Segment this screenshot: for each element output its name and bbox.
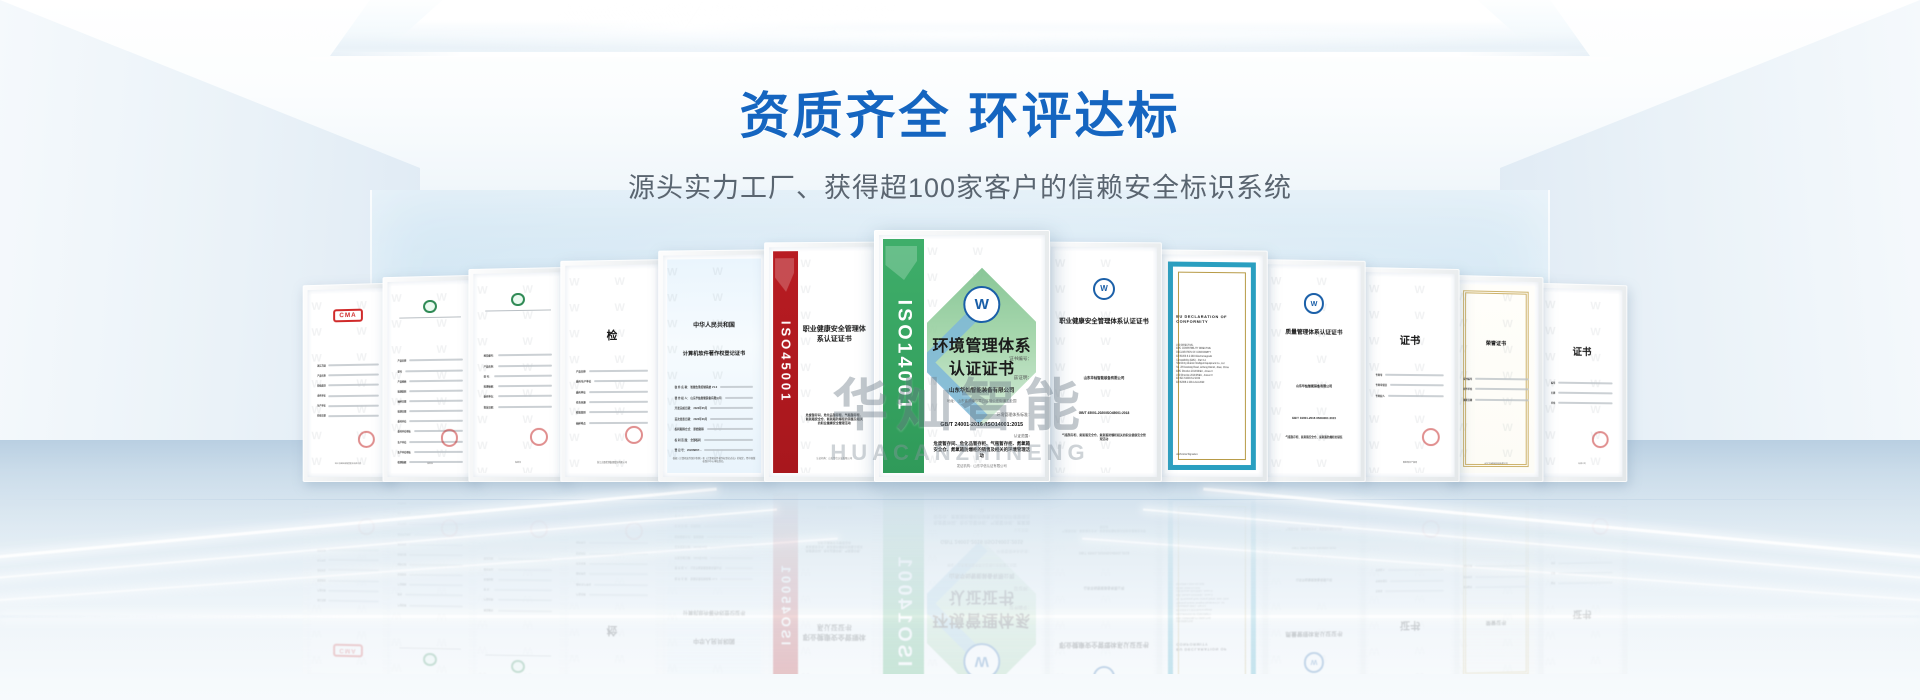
scope-value: 气瓶暂存柜、氮氧箱安全仓、氮氧箱防爆柜相关的职业健康安全管理活动	[1061, 433, 1147, 441]
certificate-mat: W W W W W W W W W W W W W W W W W W W W …	[387, 280, 472, 477]
paper-text-line	[720, 386, 753, 388]
standard-value: GB/T 24001-2016 /ISO14001:2015	[927, 422, 1036, 428]
certificate-field-row: 著 作 权 人： 山东华灿智能装备有限公司	[675, 393, 754, 401]
certificate-field-label: 委托/生产单位	[576, 379, 591, 383]
scope-value: 危废暂存间、危化品暂存柜、气瓶暂存柜、氮氧箱安全仓、氮氧箱防爆柜的销售及相关的环…	[933, 441, 1031, 459]
certificate-title: 证书	[1372, 335, 1447, 349]
certificate-field-label: 委托单位地址	[398, 430, 411, 434]
certificate-field-label: 开发完成日期： 2023年05月	[675, 406, 708, 410]
banner-headings: 资质齐全 环评达标 源头实力工厂、获得超100家客户的信赖安全标识系统	[0, 88, 1920, 205]
scope-label: 认证范围：	[1014, 434, 1032, 439]
certificate-field-label: 产品名称：	[484, 364, 495, 368]
certificate-mat: W W W W W W W W W W W W W W W W W W W W …	[473, 272, 563, 477]
certificate-field-label: 产品规格	[398, 379, 407, 383]
certificate-field-label: 委托单位：	[484, 395, 495, 399]
certificate-field-label: 型号	[398, 369, 402, 373]
certificate-subtitle: 计算机软件著作权登记证书	[671, 349, 757, 358]
certificate-field-label: 检验类别	[576, 410, 586, 414]
certificate-field-label: 报告编号：	[484, 354, 495, 358]
paper-text-line	[704, 439, 754, 441]
certificate-fields: 产品名称型号产品规格检测类别抽样日期检测日期委托单位委托单位地址生产单位生产单位…	[398, 356, 463, 468]
paper-text-line	[405, 369, 463, 372]
certificate-field-label: 颁发日期	[1463, 397, 1472, 401]
certificate-title: 检	[573, 330, 652, 344]
certificate-field-label: 检测类别	[398, 389, 407, 393]
certificate-field-row: 名称	[1551, 389, 1613, 398]
paper-text-line	[409, 400, 462, 403]
certificate-frame[interactable]: W W W W W W W W W W W W W W W W W W W W …	[468, 267, 568, 482]
certificate-field-row: 委托单位	[317, 391, 379, 400]
certificate-number-label: 证书编号：	[1009, 356, 1032, 362]
certificate-body: W W W W W W W W W W W W W W W W W W W W …	[927, 239, 1036, 473]
certificate-field-row: 权利取得方式： 原始取得	[675, 425, 754, 433]
certificate-paper: W W W W W W W W W W W W W W W W W W W W …	[391, 284, 469, 473]
certificate-field-row: 检测日期	[398, 407, 463, 416]
paper-text-line	[329, 364, 379, 367]
red-stamp-icon	[441, 429, 458, 446]
certificate-field-row: 颁发日期	[1463, 395, 1528, 404]
certificate-field-row: 检测类别	[398, 386, 463, 395]
certificate-field-label: 任务来源	[576, 400, 586, 404]
cma-badge: CMA	[312, 308, 385, 323]
certificate-field-label: 检测依据：	[484, 384, 495, 388]
paper-text-line	[1558, 402, 1612, 405]
ceiling-light-streak-icon	[553, 4, 897, 32]
paper-text-line	[1475, 398, 1528, 401]
certificate-footer: 认证机构：山东华信认证有限公司	[804, 456, 865, 460]
company-name: 山东华灿智能装备有限公司	[927, 386, 1036, 394]
paper-text-line	[589, 421, 649, 423]
certificate-paper: W W W W W W W W W W W W W W W W W W W W …	[477, 276, 559, 473]
standard-value: GB/T 19001-2016 /ISO9001:2015	[1274, 416, 1353, 420]
paper-watermark-icon: W W W W W W W W W W W W W W W W W W W W …	[800, 251, 868, 473]
iso-band: ISO45001	[773, 251, 798, 473]
certificate-footer: 根据《计算机软件保护条例》和《计算机软件著作权登记办法》的规定，经中国版权保护中…	[672, 458, 757, 464]
certificate-field-row: 检验日期	[317, 411, 379, 420]
paper-text-line	[589, 411, 649, 413]
red-stamp-icon	[1422, 428, 1440, 446]
certificate-frame[interactable]: ISO14001W W W W W W W W W W W W W W W W …	[874, 230, 1050, 482]
certificate-field-label: 单位	[1551, 402, 1555, 405]
paper-text-line	[594, 380, 648, 382]
ceiling-light-rim	[305, 52, 1615, 57]
certificate-field-label: 生产单位	[398, 440, 407, 444]
paper-text-line	[724, 396, 753, 398]
certificate-field-row: 授予单位	[1463, 385, 1528, 394]
certificate-mat: W W W W W W W W W W W W W W W W W W W W …	[1453, 280, 1538, 477]
certificate-mat: W W W W W W W W W W W W W W W W W W W W …	[1541, 288, 1622, 477]
certificate-field-label: 浙江方圆	[317, 364, 325, 367]
cma-badge-icon: CMA	[333, 309, 362, 323]
certificate-field-label: 权利取得方式： 原始取得	[675, 427, 704, 431]
paper-text-line	[498, 395, 552, 397]
certificate-footer: 深圳市	[481, 462, 555, 465]
certificate-mat: EU DECLARATION OF CONFORMITYLVD DIRECTIV…	[1161, 254, 1263, 477]
certificate-frame[interactable]: W W W W W W W W W W W W W W W W W W W W …	[1360, 267, 1460, 482]
paper-text-line	[589, 390, 649, 392]
certificate-frame[interactable]: W W W W W W W W W W W W W W W W W W W W …	[1046, 242, 1162, 482]
certificate-footer: 国家知识产权局	[1373, 462, 1447, 465]
paper-text-line	[707, 428, 754, 430]
certificate-field-label: 委托单位	[398, 419, 407, 423]
iso-band: ISO14001	[883, 239, 924, 473]
certificate-field-label: 权 利 范 围： 全部权利	[675, 438, 701, 442]
certificate-mat: W W W W W W W W W W W W W W W W W W W W …	[1365, 272, 1455, 477]
certificate-mat: W W W W W W W W W W W W W W W W W W W W …	[565, 264, 659, 477]
certificate-frame[interactable]: W W W W W W W W W W W W W W W W W W W W …	[1448, 275, 1543, 482]
paper-text-line	[329, 414, 379, 416]
paper-text-line	[498, 354, 552, 357]
certificate-fields: 证书编号授予单位颁发日期	[1463, 375, 1528, 406]
certificate-field-label: 产品名称	[576, 369, 586, 373]
certificate-field-row: 检验类别	[317, 381, 379, 390]
certificate-field-row: 委托/生产单位	[576, 377, 648, 386]
paper-text-line	[409, 410, 462, 412]
standard-value: GB/T 45001-2020/ISO45001:2018	[1059, 411, 1149, 415]
certificate-field-label: 委托单位	[576, 390, 586, 394]
certificate-field-row: 检测依据：	[484, 382, 553, 391]
certificate-footer: 山东华灿智能装备有限公司	[1461, 463, 1531, 466]
paper-text-line	[1475, 378, 1528, 381]
certificate-field-row: 任务来源	[576, 398, 648, 406]
certificate-field-label: 检验日期	[317, 414, 325, 417]
certificate-field-label: 产品名称	[317, 374, 325, 377]
accreditation-seal	[391, 299, 469, 314]
page-title: 资质齐全 环评达标	[0, 88, 1920, 146]
paper-text-line	[494, 375, 552, 378]
certificate-mat: W W W W W W W W W W W W W W W W W W W W …	[308, 288, 389, 477]
paper-text-line	[329, 394, 379, 397]
certificate-footer: 浙江方圆检测集团股份有限公司	[573, 462, 650, 465]
certificate-field-label: 抽样日期	[398, 399, 407, 403]
certificate-paper: ISO14001W W W W W W W W W W W W W W W W …	[883, 239, 1041, 473]
certificate-field-row: 委托单位	[576, 387, 648, 395]
certificate-mat: W W W W W W W W W W W W W W W W W W W W …	[1267, 264, 1361, 477]
certificate-title: EU DECLARATION OF CONFORMITY	[1176, 314, 1251, 325]
certificate-mat: ISO14001W W W W W W W W W W W W W W W W …	[879, 235, 1045, 477]
certificate-field-row: 产品名称	[576, 367, 648, 376]
certificate-field-label: 生产单位	[317, 404, 325, 407]
certificate-field-row: 浙江方圆	[317, 361, 379, 370]
certificate-field-row: 产品名称	[317, 371, 379, 380]
paper-text-line	[329, 374, 379, 377]
certificate-field-label: 首次发表日期： 2023年06月	[675, 417, 708, 421]
certificate-field-label: 签发日期：	[484, 405, 495, 409]
accreditation-seal	[477, 292, 559, 307]
certificate-field-label: 证书编号	[1463, 377, 1472, 381]
red-stamp-icon	[358, 431, 375, 448]
certificate-field-label: 授予单位	[1463, 387, 1472, 391]
certificate-field-label: 产品名称	[398, 359, 407, 363]
certificate-field-row: 单位	[1551, 399, 1613, 408]
certificate-field-label: 登 记 号： 2023SR07...	[675, 448, 702, 452]
paper-text-line	[498, 405, 552, 407]
certificate-footer: 深圳市	[395, 463, 465, 466]
certificate-field-row: 权 利 范 围： 全部权利	[675, 436, 754, 444]
certificate-field-label: 专利申请日	[1376, 383, 1388, 387]
certificate-field-row: 产品规格	[398, 376, 463, 385]
certificate-wall: W W W W W W W W W W W W W W W W W W W W …	[290, 232, 1630, 482]
certificate-field-row: 专利权人	[1376, 391, 1445, 400]
paper-text-line	[414, 451, 463, 453]
certificate-fields: 专利号专利申请日专利权人	[1376, 371, 1445, 402]
certificate-frame[interactable]: W W W W W W W W W W W W W W W W W W W W …	[560, 259, 664, 482]
certificate-fields: 软 件 名 称： 智能告警控制系统 V1.0著 作 权 人： 山东华灿智能装备有…	[675, 383, 754, 457]
certificate-field-label: 检验类别	[317, 384, 325, 387]
certificate-body: W W W W W W W W W W W W W W W W W W W W …	[800, 251, 868, 473]
paper-text-line	[1386, 374, 1445, 377]
certificate-field-row: 证书编号	[1463, 375, 1528, 384]
certificate-field-label: 抽样地点	[576, 421, 586, 425]
scope-value: 危废暂存间、危化品暂存柜、气瓶暂存柜、氮氧箱安全仓、氮氧箱防爆柜的销售及相关的职…	[804, 413, 864, 426]
paper-text-line	[498, 364, 552, 367]
certificate-title: 中华人民共和国	[671, 323, 757, 331]
certificate-field-label: 专利权人	[1376, 393, 1385, 397]
certificate-mat: W W W W W W W W W W W W W W W W W W W W …	[1051, 247, 1157, 477]
certificate-field-label: 名称	[1551, 392, 1555, 395]
company-address: 地址：山东省济南市章丘区相公庄街道工业园	[932, 399, 1032, 404]
qualification-banner: 资质齐全 环评达标 源头实力工厂、获得超100家客户的信赖安全标识系统 W W …	[0, 0, 1920, 700]
certificate-footer: 发证机构：山东华信认证有限公司	[933, 463, 1031, 468]
certificate-footer: 浙江方圆检测集团股份有限公司	[315, 463, 381, 466]
band-corner-accent-icon	[775, 258, 795, 292]
certificate-mat: W W W W W W W W W W W W W W W W W W W W …	[663, 254, 765, 477]
company-name: 山东华灿智能装备有限公司	[1274, 383, 1353, 389]
certificate-mat: ISO45001W W W W W W W W W W W W W W W W …	[769, 247, 875, 477]
certificate-frame[interactable]: W W W W W W W W W W W W W W W W W W W W …	[303, 283, 394, 482]
iso-band-label: ISO45001	[778, 321, 793, 404]
paper-text-line	[1558, 392, 1612, 395]
certificate-field-row: 型 号：	[484, 372, 553, 381]
certificate-field-row: 首次发表日期： 2023年06月	[675, 414, 754, 422]
paper-text-line	[589, 401, 649, 403]
iso-band-label: ISO14001	[892, 300, 915, 413]
certificate-fields: 浙江方圆产品名称检验类别委托单位生产单位检验日期	[317, 361, 379, 422]
certificate-fields: 报告编号：产品名称：型 号：检测依据：委托单位：签发日期：	[484, 351, 553, 413]
certificate-frame[interactable]: W W W W W W W W W W W W W W W W W W W W …	[1262, 259, 1366, 482]
paper-text-line	[498, 385, 552, 388]
certificate-frame[interactable]: W W W W W W W W W W W W W W W W W W W W …	[1536, 283, 1627, 482]
green-seal-icon	[511, 293, 524, 307]
certificate-field-row: 专利申请日	[1376, 381, 1445, 390]
certificate-field-row: 抽样日期	[398, 397, 463, 406]
certificate-footer: Authorized Signature	[1176, 454, 1197, 456]
certificate-field-row: 签发日期：	[484, 402, 553, 411]
certificate-field-label: 委托单位	[317, 394, 325, 397]
certificate-fields: 编号名称单位	[1551, 379, 1613, 410]
floor-light-streak-icon	[0, 615, 1920, 618]
certificate-field-row: 委托单位：	[484, 392, 553, 401]
red-stamp-icon	[530, 428, 548, 446]
certificate-frame[interactable]: W W W W W W W W W W W W W W W W W W W W …	[383, 275, 478, 482]
certificate-field-label: 编号	[1551, 381, 1555, 384]
certificate-paper: W W W W W W W W W W W W W W W W W W W W …	[1271, 268, 1357, 473]
certificate-paper: W W W W W W W W W W W W W W W W W W W W …	[312, 292, 385, 473]
certificate-title: 荣誉证书	[1460, 341, 1531, 349]
certificate-field-label: 型 号：	[484, 374, 492, 378]
certificate-field-row: 委托单位	[398, 417, 463, 425]
certificate-paper: W W W W W W W W W W W W W W W W W W W W …	[1545, 292, 1618, 473]
certificate-field-row: 生产单位	[317, 401, 379, 410]
paper-text-line	[704, 449, 753, 451]
certification-seal-icon: W	[1093, 278, 1115, 300]
certificate-paper: EU DECLARATION OF CONFORMITYLVD DIRECTIV…	[1165, 258, 1259, 473]
certificate-title: 职业健康安全管理体系认证证书	[1059, 317, 1149, 325]
certificate-paper: W W W W W W W W W W W W W W W W W W W W …	[1055, 251, 1153, 473]
certificate-paper: ISO45001W W W W W W W W W W W W W W W W …	[773, 251, 871, 473]
standard-label: 环境管理体系标准：	[996, 412, 1031, 418]
certificate-fields: 产品名称委托/生产单位委托单位任务来源检验类别抽样地点	[576, 367, 648, 429]
band-corner-accent-icon	[885, 246, 917, 280]
certificate-field-label: 专利号	[1376, 373, 1383, 377]
certificate-title: 证书	[1548, 346, 1616, 359]
certificate-field-row: 产品名称：	[484, 361, 553, 370]
certificate-footer: 有限公司	[1549, 463, 1615, 466]
certificate-field-row: 登 记 号： 2023SR07...	[675, 446, 754, 454]
paper-text-line	[409, 389, 462, 392]
certificate-frame[interactable]: ISO45001W W W W W W W W W W W W W W W W …	[764, 242, 880, 482]
certificate-paper: W W W W W W W W W W W W W W W W W W W W …	[1457, 284, 1535, 473]
certificate-field-row: 型号	[398, 366, 463, 375]
certificate-field-row: 产品名称	[398, 356, 463, 365]
certificate-frame[interactable]: W W W W W W W W W W W W W W W W W W W W …	[658, 249, 770, 482]
paper-text-line	[409, 379, 462, 382]
certificate-field-row: 生产单位地址	[398, 448, 463, 456]
certificate-field-row: 开发完成日期： 2023年05月	[675, 404, 754, 412]
certificate-field-row: 编号	[1551, 379, 1613, 388]
paper-text-line	[329, 404, 379, 407]
paper-text-line	[1390, 384, 1444, 387]
company-label: 兹证明：	[1014, 375, 1032, 381]
certificate-field-row: 检验类别	[576, 408, 648, 416]
certificate-field-label: 生产单位地址	[398, 450, 411, 454]
green-seal-icon	[423, 300, 436, 313]
certificate-field-label: 检测日期	[398, 409, 407, 413]
certificate-field-row: 专利号	[1376, 371, 1445, 380]
certificate-field-label: 著 作 权 人： 山东华灿智能装备有限公司	[675, 396, 722, 400]
certificate-paper: W W W W W W W W W W W W W W W W W W W W …	[667, 258, 761, 473]
company-name: 山东华灿智能装备有限公司	[1059, 375, 1149, 380]
paper-text-line	[1558, 382, 1612, 385]
certificate-title: 质量管理体系认证证书	[1274, 330, 1353, 338]
paper-text-line	[329, 384, 379, 387]
scope-value: 气瓶暂存柜、氮氧箱安全仓、氮氧箱防爆柜的销售	[1276, 436, 1352, 440]
certificate-field-row: 软 件 名 称： 智能告警控制系统 V1.0	[675, 383, 754, 391]
paper-text-line	[710, 417, 753, 419]
certificate-field-row: 抽样地点	[576, 418, 648, 426]
paper-text-line	[710, 407, 753, 409]
paper-text-line	[409, 420, 462, 422]
paper-text-line	[1475, 388, 1528, 391]
paper-text-line	[409, 359, 462, 362]
certificate-frame[interactable]: EU DECLARATION OF CONFORMITYLVD DIRECTIV…	[1156, 249, 1268, 482]
certificate-paper: W W W W W W W W W W W W W W W W W W W W …	[1369, 276, 1451, 473]
red-stamp-icon	[1592, 431, 1608, 448]
page-subtitle: 源头实力工厂、获得超100家客户的信赖安全标识系统	[0, 166, 1920, 205]
certificate-field-label: 软 件 名 称： 智能告警控制系统 V1.0	[675, 385, 718, 389]
certificate-field-row: 报告编号：	[484, 351, 553, 360]
eu-declaration-line: EN 62368-1:2014+A11:2020	[1176, 382, 1251, 386]
certificate-paper: W W W W W W W W W W W W W W W W W W W W …	[569, 268, 655, 473]
eu-declaration-text: LVD DIRECTIVE,EMC COMPATIBILITY DIRECTIV…	[1176, 344, 1251, 386]
paper-text-line	[1388, 394, 1444, 396]
paper-text-line	[589, 370, 649, 372]
certificate-title: 职业健康安全管理体系认证证书	[802, 324, 867, 344]
